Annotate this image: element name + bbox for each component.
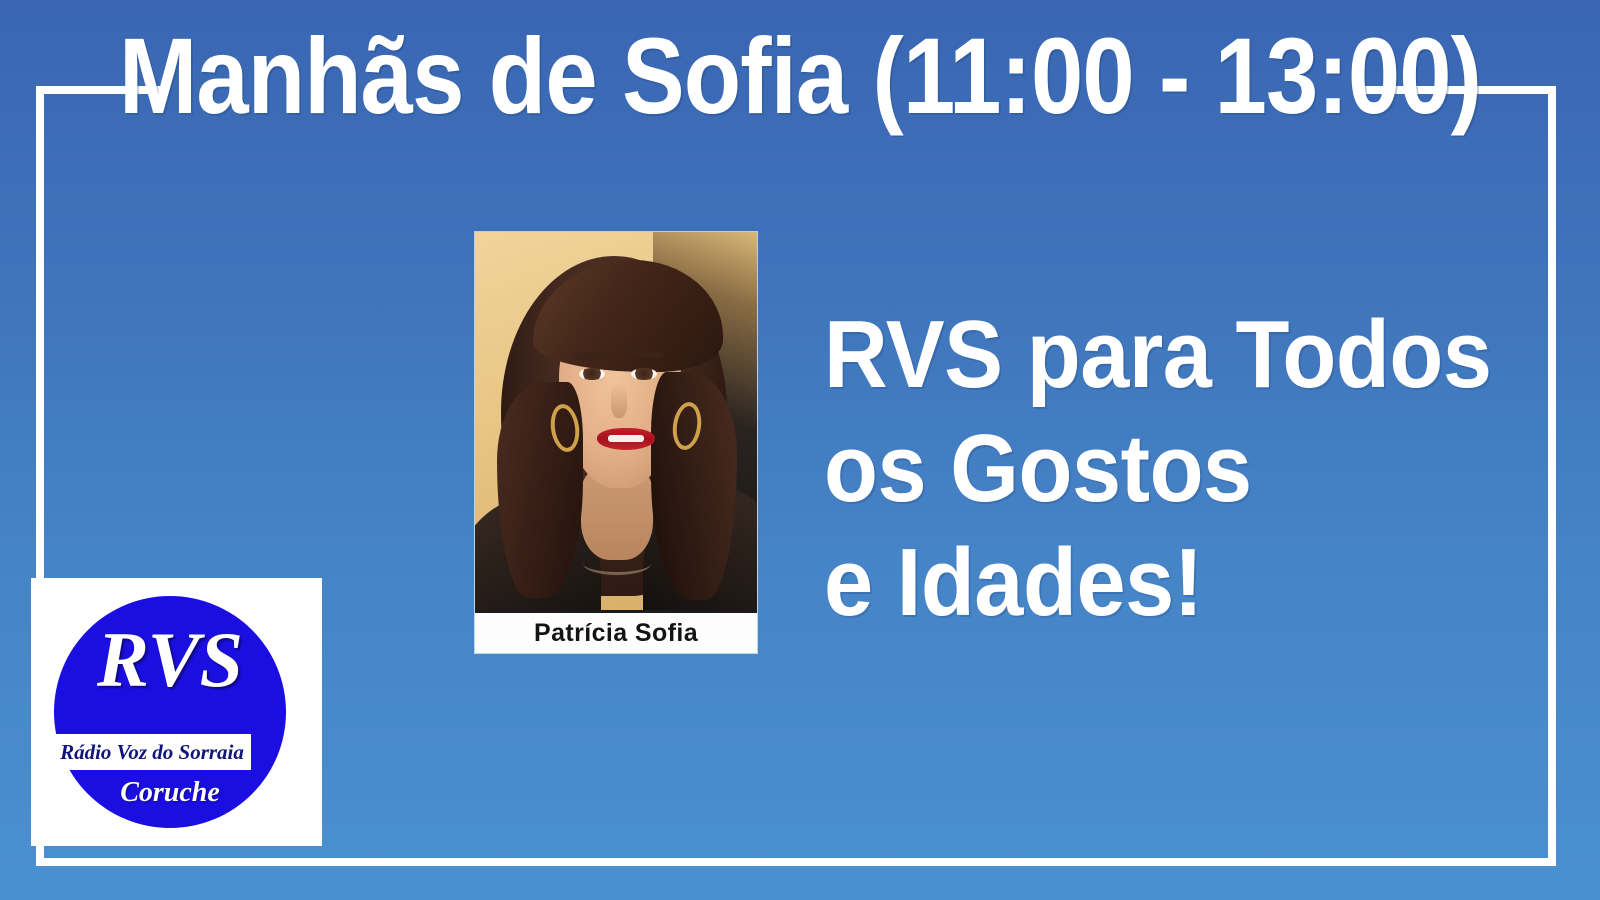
frame-segment-bottom [36,858,1556,866]
tagline-block: RVS para Todos os Gostos e Idades! [824,298,1524,640]
station-logo: RVS Rádio Voz do Sorraia Coruche [31,578,322,846]
tagline-line-2: os Gostos [824,412,1468,526]
tagline-line-1: RVS para Todos [824,298,1468,412]
portrait-eye-left [579,368,605,380]
frame-segment-right [1548,86,1556,866]
portrait-necklace [583,552,651,575]
host-name-caption: Patrícia Sofia [475,613,757,653]
show-title: Manhãs de Sofia (11:00 - 13:00) [104,22,1496,130]
host-portrait-image [475,232,757,610]
logo-monogram: RVS [54,620,286,700]
portrait-teeth [608,435,644,442]
radio-show-poster: Manhãs de Sofia (11:00 - 13:00) Pa [0,0,1600,900]
tagline-line-3: e Idades! [824,526,1468,640]
logo-station-name: Rádio Voz do Sorraia [53,734,251,770]
host-photo-card: Patrícia Sofia [475,232,757,653]
logo-city: Coruche [54,776,286,810]
portrait-nose [611,384,627,418]
portrait-eye-right [631,368,657,380]
